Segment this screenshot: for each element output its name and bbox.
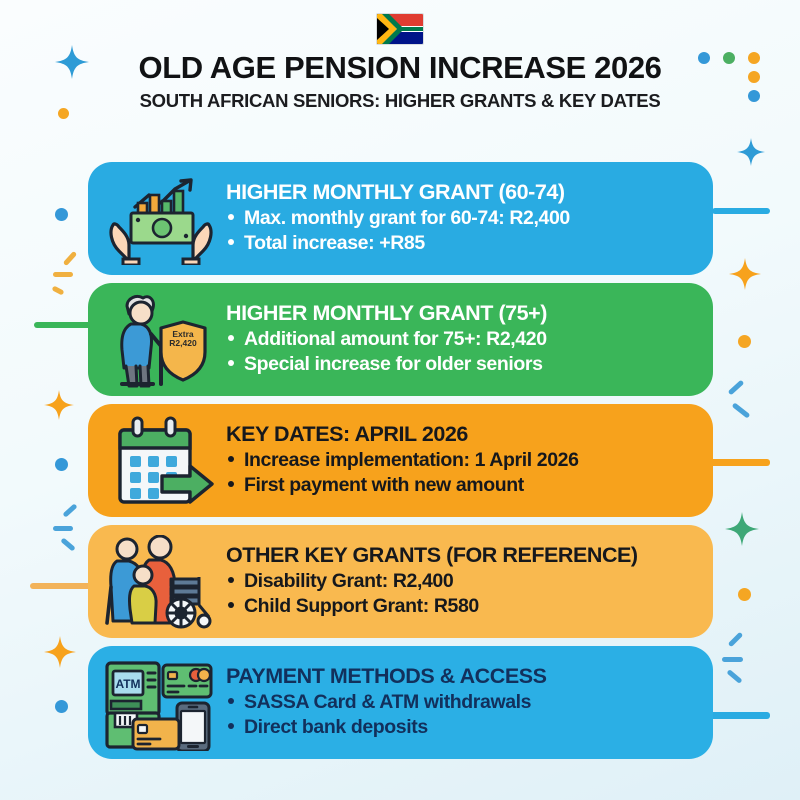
orange-dot [738, 588, 751, 601]
bullet-text: Disability Grant: R2,400 [244, 569, 453, 594]
blue-dash [728, 380, 745, 396]
card-other-key-grants[interactable]: OTHER KEY GRANTS (FOR REFERENCE) Disabil… [88, 525, 713, 638]
card-body: KEY DATES: APRIL 2026 Increase implement… [220, 423, 697, 498]
blue-connector [712, 208, 770, 214]
blue-dot [55, 208, 68, 221]
bullet-text: Max. monthly grant for 60-74: R2,400 [244, 206, 570, 231]
list-item: Special increase for older seniors [226, 352, 697, 377]
orange-connector [30, 583, 96, 589]
card-bullets: Increase implementation: 1 April 2026 Fi… [226, 448, 697, 498]
bullet-dot [228, 456, 234, 462]
south-african-flag-icon [377, 14, 423, 44]
blue-dash [53, 526, 73, 531]
atm-card-phone-icon: ATM [102, 655, 220, 751]
bullet-text: SASSA Card & ATM withdrawals [244, 690, 531, 715]
bullet-dot [228, 698, 234, 704]
blue-dash [726, 669, 742, 684]
hands-holding-money-icon [102, 171, 220, 267]
calendar-arrow-icon [102, 413, 220, 509]
list-item: Additional amount for 75+: R2,420 [226, 327, 697, 352]
blue-dot [55, 458, 68, 471]
bullet-dot [228, 335, 234, 341]
senior-with-cane-shield-icon: Extra R2,420 [102, 292, 220, 388]
bullet-text: Child Support Grant: R580 [244, 594, 479, 619]
blue-connector [710, 712, 770, 719]
card-key-dates-april-2026[interactable]: KEY DATES: APRIL 2026 Increase implement… [88, 404, 713, 517]
card-body: HIGHER MONTHLY GRANT (75+) Additional am… [220, 302, 697, 377]
orange-connector [710, 459, 770, 466]
green-connector [34, 322, 96, 328]
bullet-dot [228, 481, 234, 487]
list-item: Total increase: +R85 [226, 231, 697, 256]
orange-sparkle-icon [44, 390, 74, 420]
blue-dot [55, 700, 68, 713]
list-item: Increase implementation: 1 April 2026 [226, 448, 697, 473]
card-title: HIGHER MONTHLY GRANT (75+) [226, 302, 697, 325]
bullet-text: Total increase: +R85 [244, 231, 425, 256]
family-wheelchair-icon [102, 534, 220, 630]
card-higher-monthly-grant-75-plus[interactable]: Extra R2,420 HIGHER MONTHLY GRANT (75+) … [88, 283, 713, 396]
card-body: HIGHER MONTHLY GRANT (60-74) Max. monthl… [220, 181, 697, 256]
list-item: Disability Grant: R2,400 [226, 569, 697, 594]
card-bullets: Max. monthly grant for 60-74: R2,400 Tot… [226, 206, 697, 256]
svg-text:ATM: ATM [115, 677, 140, 691]
blue-dash [732, 402, 751, 418]
bullet-text: Special increase for older seniors [244, 352, 543, 377]
bullet-dot [228, 577, 234, 583]
card-bullets: Disability Grant: R2,400 Child Support G… [226, 569, 697, 619]
bullet-dot [228, 239, 234, 245]
card-bullets: Additional amount for 75+: R2,420 Specia… [226, 327, 697, 377]
orange-dash [63, 251, 77, 266]
list-item: SASSA Card & ATM withdrawals [226, 690, 697, 715]
orange-sparkle-icon [44, 636, 76, 668]
blue-dash [62, 503, 77, 517]
bullet-dot [228, 360, 234, 366]
cards-list: HIGHER MONTHLY GRANT (60-74) Max. monthl… [88, 162, 713, 767]
header: OLD AGE PENSION INCREASE 2026 SOUTH AFRI… [0, 14, 800, 112]
bullet-dot [228, 602, 234, 608]
list-item: Max. monthly grant for 60-74: R2,400 [226, 206, 697, 231]
list-item: Direct bank deposits [226, 715, 697, 740]
card-higher-monthly-grant-60-74[interactable]: HIGHER MONTHLY GRANT (60-74) Max. monthl… [88, 162, 713, 275]
card-title: PAYMENT METHODS & ACCESS [226, 665, 697, 688]
orange-dash [52, 285, 65, 295]
blue-dash [728, 632, 744, 648]
page-title: OLD AGE PENSION INCREASE 2026 [0, 52, 800, 85]
list-item: Child Support Grant: R580 [226, 594, 697, 619]
orange-sparkle-icon [729, 258, 761, 290]
bullet-text: First payment with new amount [244, 473, 524, 498]
badge-line1: Extra [172, 329, 193, 339]
shield-badge-text: Extra R2,420 [160, 330, 206, 350]
card-payment-methods-access[interactable]: ATM [88, 646, 713, 759]
blue-dash [722, 657, 743, 662]
card-title: HIGHER MONTHLY GRANT (60-74) [226, 181, 697, 204]
bullet-dot [228, 214, 234, 220]
card-bullets: SASSA Card & ATM withdrawals Direct bank… [226, 690, 697, 740]
page-subtitle: SOUTH AFRICAN SENIORS: HIGHER GRANTS & K… [0, 90, 800, 112]
orange-dash [53, 272, 73, 277]
bullet-text: Additional amount for 75+: R2,420 [244, 327, 547, 352]
bullet-text: Increase implementation: 1 April 2026 [244, 448, 579, 473]
card-body: OTHER KEY GRANTS (FOR REFERENCE) Disabil… [220, 544, 697, 619]
infographic-canvas: OLD AGE PENSION INCREASE 2026 SOUTH AFRI… [0, 0, 800, 800]
card-title: KEY DATES: APRIL 2026 [226, 423, 697, 446]
bullet-text: Direct bank deposits [244, 715, 428, 740]
card-body: PAYMENT METHODS & ACCESS SASSA Card & AT… [220, 665, 697, 740]
blue-dash [60, 537, 75, 551]
orange-dot [738, 335, 751, 348]
bullet-dot [228, 723, 234, 729]
badge-line2: R2,420 [169, 338, 196, 348]
list-item: First payment with new amount [226, 473, 697, 498]
blue-sparkle-icon [737, 138, 765, 166]
card-title: OTHER KEY GRANTS (FOR REFERENCE) [226, 544, 697, 567]
green-sparkle-icon [725, 512, 759, 546]
